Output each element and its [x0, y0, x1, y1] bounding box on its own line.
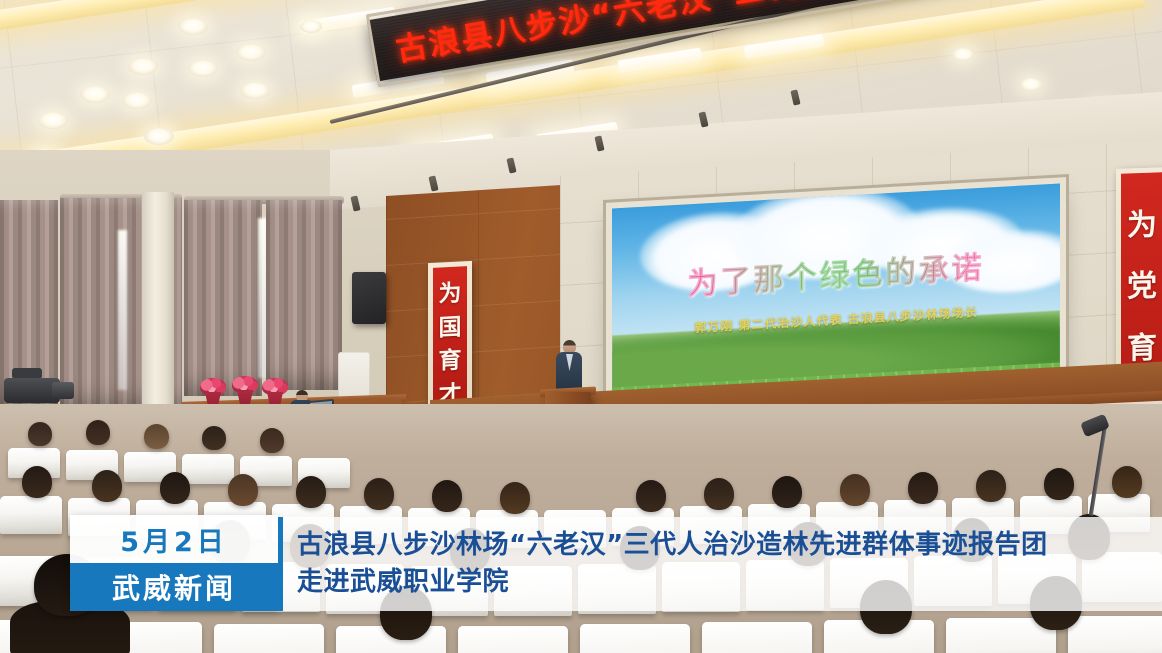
- audience-chair: [580, 624, 690, 653]
- audience-head: [908, 472, 938, 504]
- ceiling-downlight: [240, 82, 270, 99]
- audience-chair: [0, 496, 62, 534]
- audience-head: [92, 470, 122, 502]
- audience-head: [1044, 468, 1074, 500]
- ceiling-downlight: [144, 128, 174, 145]
- audience-head: [228, 474, 258, 506]
- audience-head: [260, 428, 284, 453]
- curtain-middle-right: [266, 200, 342, 390]
- audience-head: [840, 474, 870, 506]
- channel-badge: 5月2日 武威新闻: [70, 515, 278, 611]
- scroll-char: 党: [1127, 272, 1157, 303]
- caption-line-1: 古浪县八步沙林场“六老汉”三代人治沙造林先进群体事迹报告团: [297, 527, 1162, 564]
- wall-speaker: [352, 272, 386, 324]
- audience-head: [976, 470, 1006, 502]
- scroll-char: 为: [439, 283, 462, 307]
- ceiling-downlight: [128, 58, 158, 75]
- scroll-char: 国: [439, 316, 462, 340]
- broadcast-date: 5月2日: [70, 515, 278, 563]
- lower-third-caption: 古浪县八步沙林场“六老汉”三代人治沙造林先进群体事迹报告团 走进武威职业学院: [278, 517, 1162, 611]
- window-light: [118, 230, 127, 390]
- ceiling-downlight: [952, 48, 974, 61]
- video-camera: [0, 372, 78, 430]
- channel-name: 武威新闻: [70, 563, 278, 611]
- ceiling-downlight: [80, 86, 110, 103]
- audience-chair: [458, 626, 568, 653]
- ceiling-downlight: [178, 18, 208, 35]
- audience-head: [636, 480, 666, 512]
- audience-head: [144, 424, 169, 449]
- scroll-char: 育: [1127, 333, 1157, 364]
- caption-line-2: 走进武威职业学院: [297, 564, 1162, 601]
- audience-chair: [1068, 616, 1162, 653]
- scroll-char: 育: [439, 350, 462, 374]
- audience-head: [432, 480, 462, 512]
- ceiling-downlight: [188, 60, 218, 77]
- broadcast-frame: 古浪县八步沙“六老汉”三代人治沙造林先进群体事迹报告会 为了那个绿色的承诺 郭万…: [0, 0, 1162, 653]
- audience-head: [160, 472, 190, 504]
- audience-chair: [182, 454, 234, 484]
- camera-lens: [52, 382, 74, 399]
- audience-chair: [702, 622, 812, 653]
- audience-head: [704, 478, 734, 510]
- curtain-middle: [184, 200, 262, 396]
- ceiling-downlight: [236, 44, 266, 61]
- scroll-char: 为: [1127, 210, 1157, 241]
- audience-head: [364, 478, 394, 510]
- ceiling-downlight: [300, 20, 322, 33]
- audience-head: [772, 476, 802, 508]
- audience-head: [22, 466, 52, 498]
- audience-head: [1112, 466, 1142, 498]
- audience-head: [202, 426, 226, 450]
- audience-head: [86, 420, 110, 445]
- audience-head: [500, 482, 530, 514]
- audience-chair: [214, 624, 324, 653]
- audience-head: [296, 476, 326, 508]
- ceiling-downlight: [38, 112, 68, 129]
- ceiling-downlight: [1020, 78, 1042, 91]
- ceiling-downlight: [122, 92, 152, 109]
